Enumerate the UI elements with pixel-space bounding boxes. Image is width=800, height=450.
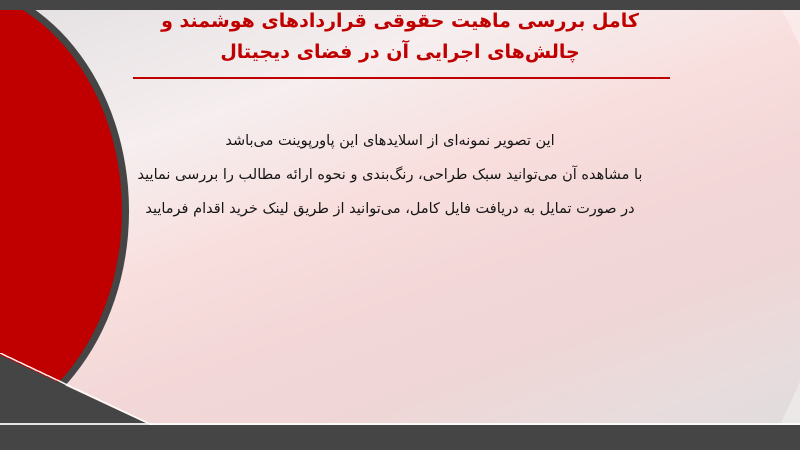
slide-title: کامل بررسی ماهیت حقوقی قراردادهای هوشمند… bbox=[120, 6, 680, 68]
body-line-3: در صورت تمایل به دریافت فایل کامل، می‌تو… bbox=[100, 192, 680, 226]
bottom-left-corner-seam bbox=[0, 353, 152, 425]
title-line-1: کامل بررسی ماهیت حقوقی قراردادهای هوشمند… bbox=[120, 6, 680, 37]
title-line-2: چالش‌های اجرایی آن در فضای دیجیتال bbox=[120, 37, 680, 68]
body-line-1: این تصویر نمونه‌ای از اسلایدهای این پاور… bbox=[100, 124, 680, 158]
title-underline bbox=[133, 77, 670, 79]
presentation-slide: کامل بررسی ماهیت حقوقی قراردادهای هوشمند… bbox=[0, 0, 800, 450]
slide-body-text: این تصویر نمونه‌ای از اسلایدهای این پاور… bbox=[100, 124, 680, 226]
bottom-frame-bar bbox=[0, 425, 800, 450]
body-line-2: با مشاهده آن می‌توانید سبک طراحی، رنگ‌بن… bbox=[100, 158, 680, 192]
